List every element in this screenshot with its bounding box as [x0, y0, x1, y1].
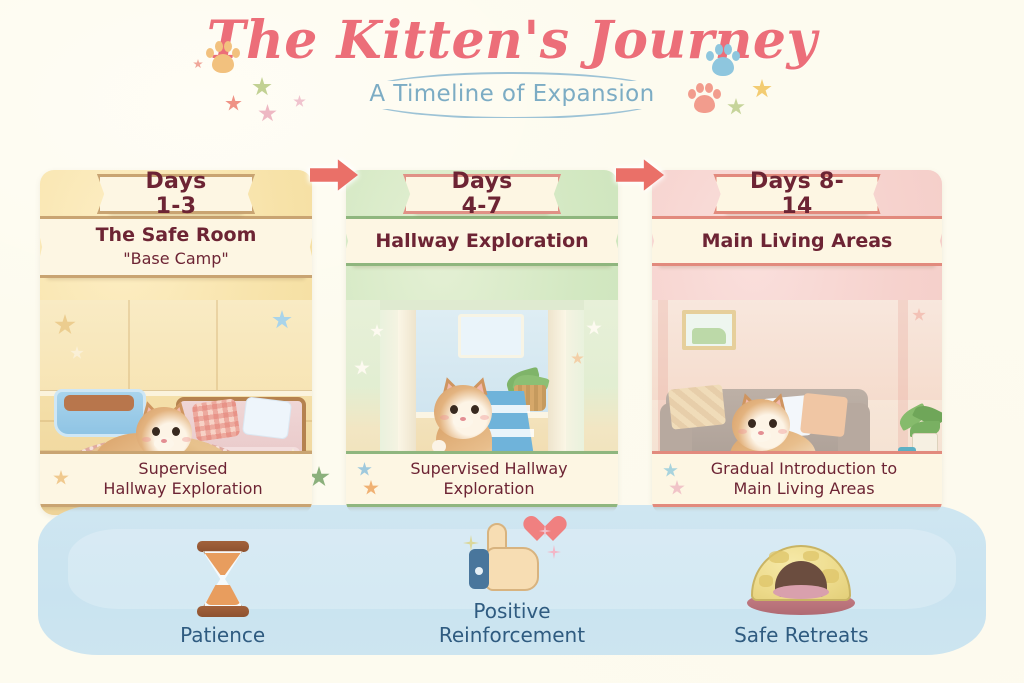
star-icon [363, 480, 379, 496]
footer-item-label-line2: Reinforcement [439, 623, 585, 647]
day-banner-3: Days 8-14 [725, 174, 870, 214]
star-icon [357, 462, 372, 477]
panel-title: The Safe Room "Base Camp" [96, 224, 257, 270]
arrow-right-icon-2 [616, 158, 664, 192]
throw-blanket [668, 384, 726, 429]
page-title: The Kitten's Journey [0, 8, 1024, 74]
page-subtitle: A Timeline of Expansion [369, 78, 654, 110]
footer-banner-text: Supervised Hallway Exploration [103, 459, 262, 499]
footer-line-2: Main Living Areas [733, 479, 874, 498]
day-label: Days 4-7 [435, 170, 529, 219]
sparkle-icon [547, 545, 561, 559]
footer-line-1: Gradual Introduction to [711, 459, 897, 478]
cat-igloo-bed-icon [681, 539, 921, 621]
footer-line-2: Exploration [443, 479, 534, 498]
footer-item-safe-retreats[interactable]: Safe Retreats [681, 539, 921, 647]
heart-icon [523, 517, 553, 544]
timeline-panel-days-1-3[interactable]: Days 1-3 The Safe Room "Base Camp" Super… [40, 170, 312, 515]
star-decor [354, 360, 370, 376]
footer-item-label: Positive Reinforcement [392, 599, 632, 647]
footer-item-label: Patience [103, 623, 343, 647]
header: The Kitten's Journey A Timeline of Expan… [0, 8, 1024, 110]
footer-item-label: Safe Retreats [681, 623, 921, 647]
timeline-panels: Days 1-3 The Safe Room "Base Camp" Super… [40, 170, 984, 515]
day-label: Days 1-3 [129, 170, 223, 219]
star-decor [586, 320, 602, 336]
title-banner-1: The Safe Room "Base Camp" [46, 216, 306, 278]
pillow-blue [242, 396, 292, 439]
paw-print-coral-icon [688, 82, 720, 114]
footer-banner-text: Supervised Hallway Exploration [410, 459, 567, 499]
timeline-panel-days-4-7[interactable]: Days 4-7 Hallway Exploration Supervised … [346, 170, 618, 515]
door-lintel [380, 300, 584, 310]
day-banner-1: Days 1-3 [108, 174, 244, 214]
footer-banner-1: Supervised Hallway Exploration [40, 451, 312, 507]
hourglass-icon [103, 539, 343, 621]
footer-line-2: Hallway Exploration [103, 479, 262, 498]
star-icon [53, 470, 69, 486]
star-icon [669, 480, 685, 496]
star-icon [663, 463, 678, 478]
footer-item-positive-reinforcement[interactable]: Positive Reinforcement [392, 515, 632, 647]
day-banner-2: Days 4-7 [414, 174, 550, 214]
panel-title-text: Hallway Exploration [375, 230, 588, 253]
timeline-panel-days-8-14[interactable]: Days 8-14 Main Living Areas Gradual Intr… [652, 170, 942, 515]
footer-item-patience[interactable]: Patience [103, 539, 343, 647]
wall-seam [128, 300, 130, 396]
footer-items: Patience Positive Reinforcement [38, 510, 986, 655]
window [458, 314, 524, 358]
footer-item-label-line1: Positive [473, 599, 550, 623]
panel-title-text: The Safe Room [96, 224, 257, 246]
panel-title-text: Main Living Areas [702, 230, 893, 253]
infographic-canvas: The Kitten's Journey A Timeline of Expan… [0, 0, 1024, 683]
wall [40, 300, 312, 396]
day-label: Days 8-14 [746, 170, 849, 219]
framed-picture-art [692, 328, 726, 344]
paw-print-orange-icon [206, 40, 240, 74]
panel-subtitle-text: "Base Camp" [96, 247, 257, 270]
arrow-right-icon-1 [310, 158, 358, 192]
wall-seam [216, 300, 218, 396]
footer-banner-2: Supervised Hallway Exploration [346, 451, 618, 507]
footer-line-1: Supervised Hallway [410, 459, 567, 478]
title-banner-2: Hallway Exploration [352, 216, 612, 266]
thumbs-up-heart-icon [392, 515, 632, 597]
footer-line-1: Supervised [138, 459, 227, 478]
title-banner-3: Main Living Areas [658, 216, 936, 266]
subtitle-wrapper: A Timeline of Expansion [343, 78, 680, 110]
paw-print-blue-icon [706, 43, 740, 77]
footer-banner-text: Gradual Introduction to Main Living Area… [711, 459, 897, 499]
subtitle-rule-bottom [343, 109, 680, 118]
footer-banner-3: Gradual Introduction to Main Living Area… [652, 451, 942, 507]
subtitle-rule-top [343, 72, 680, 81]
